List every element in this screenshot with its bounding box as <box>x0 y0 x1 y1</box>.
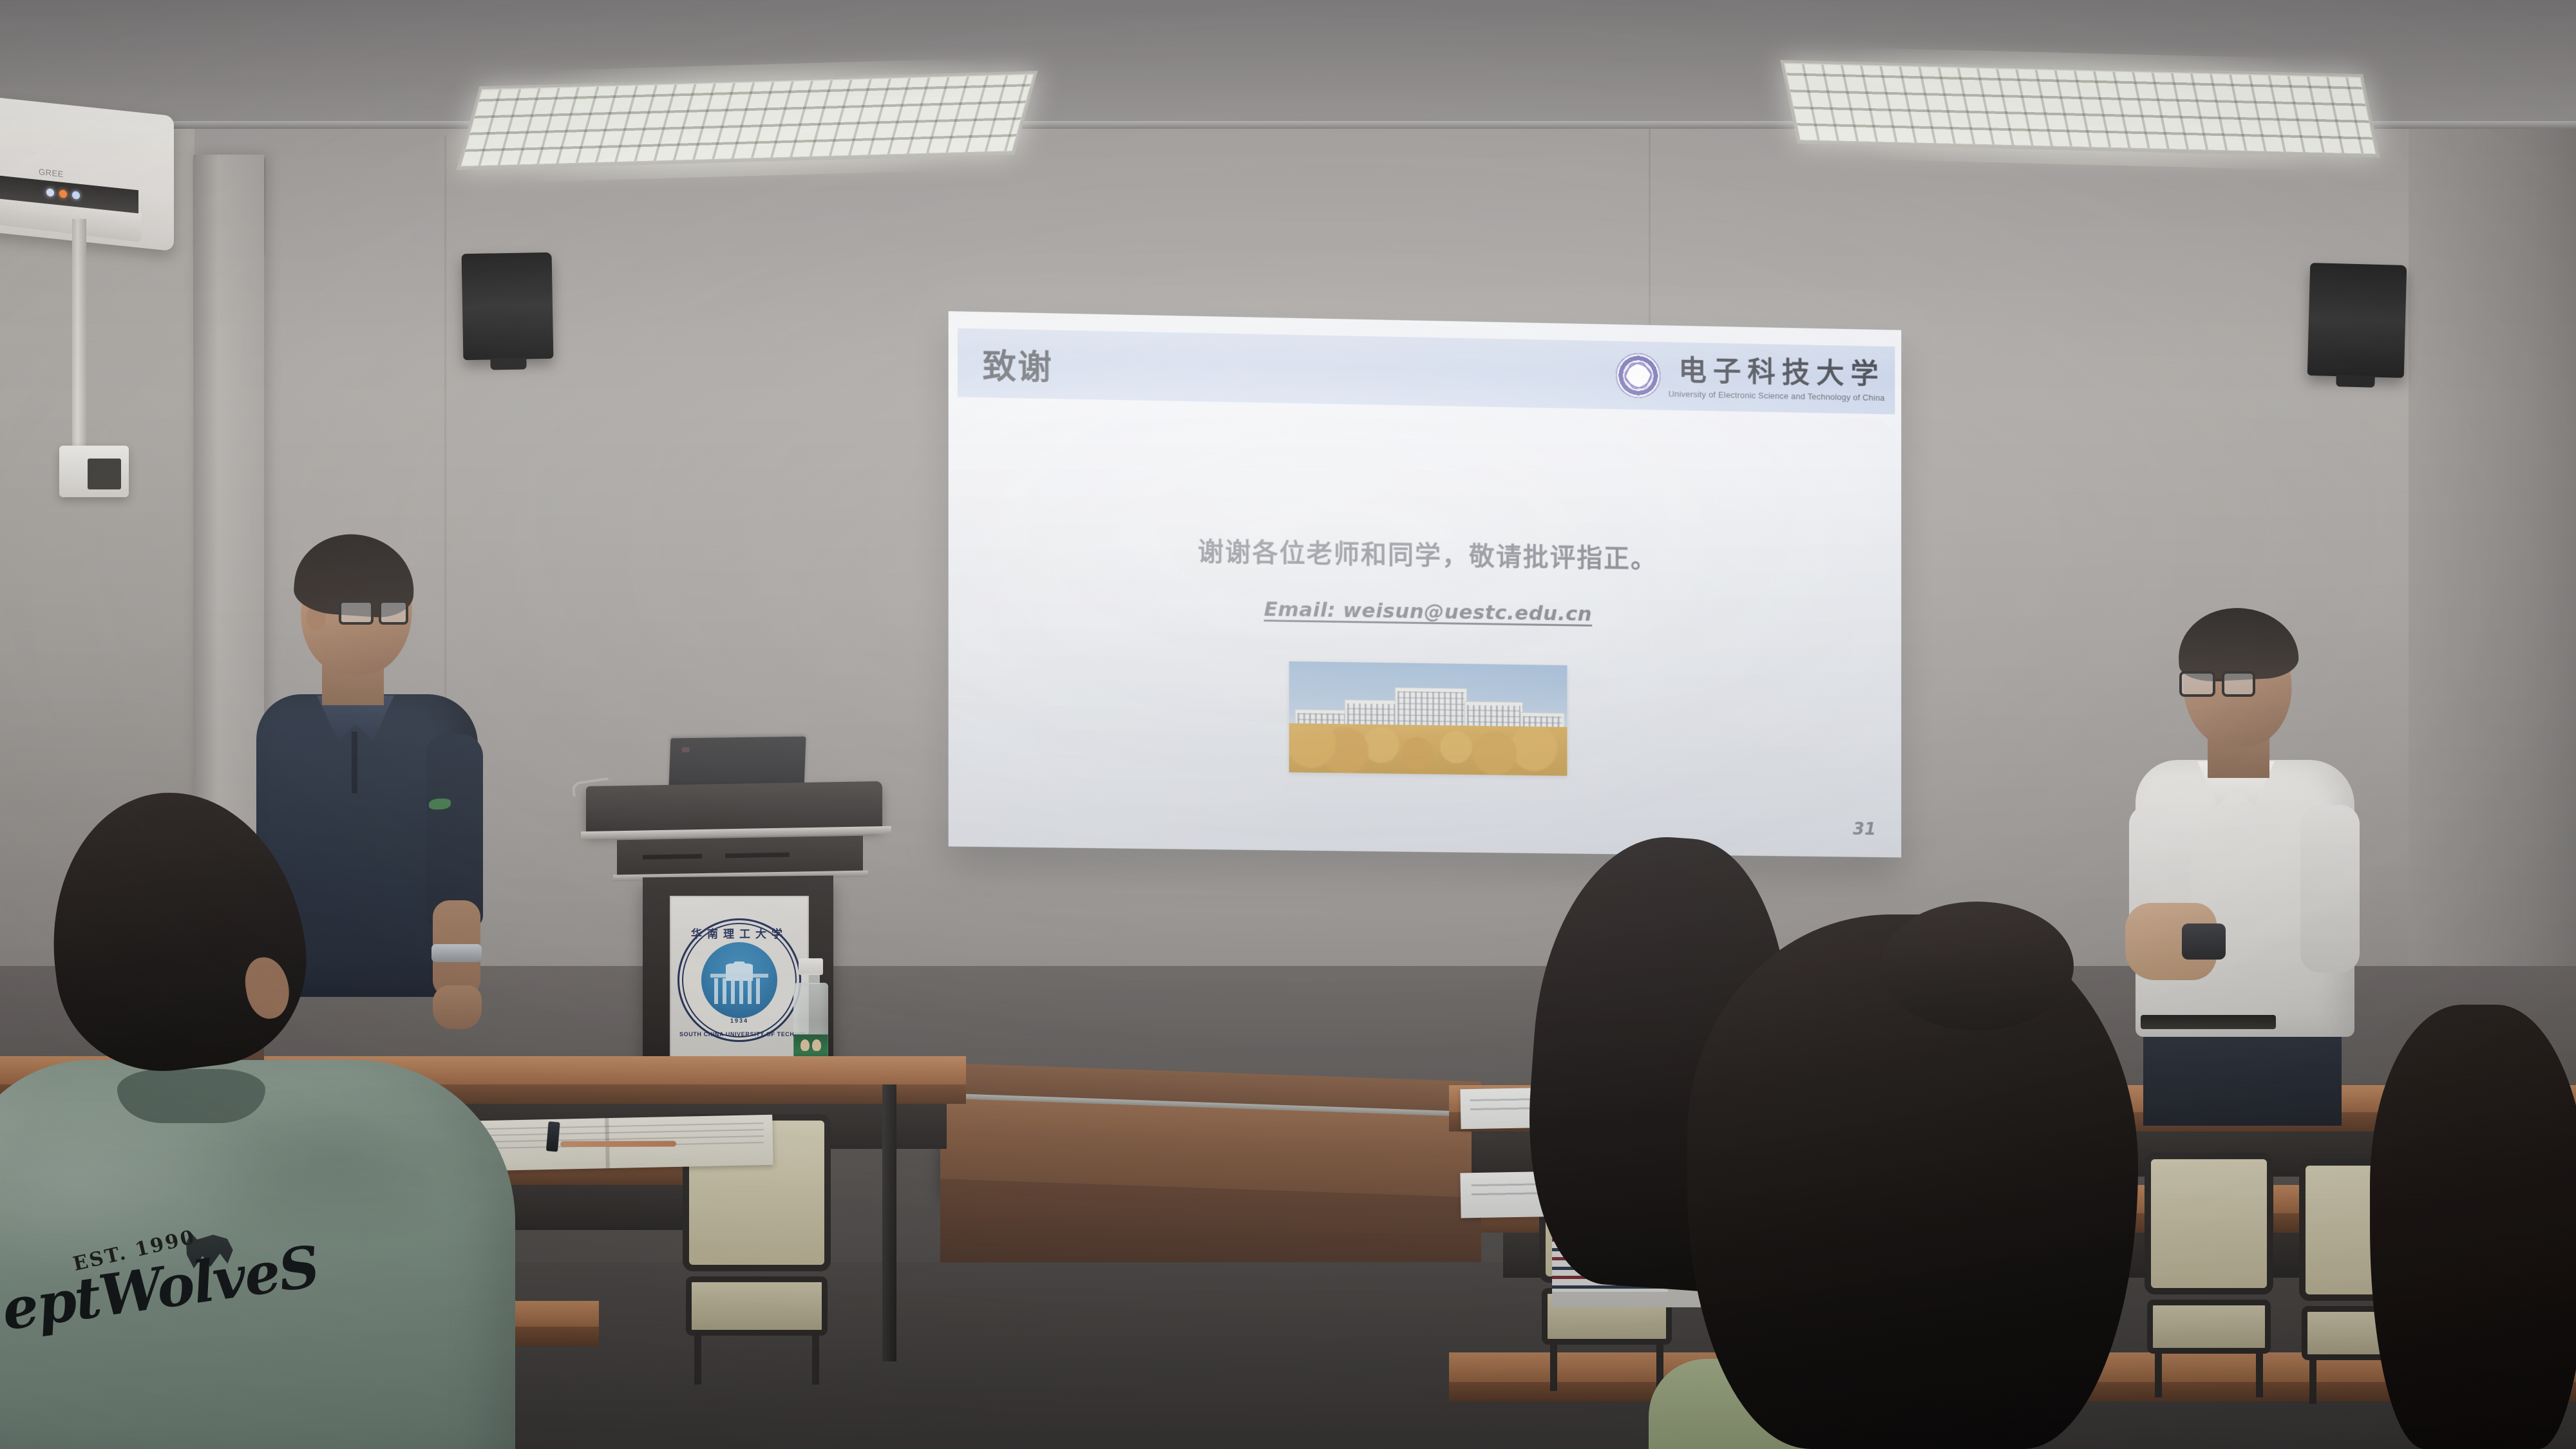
student-hair-bun <box>1880 902 2074 1030</box>
chair-legs <box>694 1336 819 1385</box>
student-hair <box>2370 1005 2576 1449</box>
glasses-lens <box>339 600 374 625</box>
audience-student-right-2 <box>1687 914 2151 1449</box>
wall-speaker-left <box>462 252 554 360</box>
presenter-right-arm-right <box>2300 805 2360 972</box>
troffer-louver <box>1785 64 2375 154</box>
uestc-wordmark: 电子科技大学 University of Electronic Science … <box>1669 357 1885 402</box>
tshirt-collar <box>117 1069 265 1123</box>
bottle-cap <box>799 958 823 975</box>
slide-email-link[interactable]: Email: weisun@uestc.edu.cn <box>949 592 1902 630</box>
slide-number: 31 <box>1853 820 1876 839</box>
scut-seal-icon: 华南理工大学 1934 SOUTH CHINA UNIVERSITY OF TE… <box>677 918 801 1042</box>
lectern-port <box>725 853 790 858</box>
projection-screen: 致谢 电子科技大学 University of Electronic Scien… <box>949 311 1902 857</box>
ceiling-light-icon <box>456 71 1037 170</box>
ceiling-light-icon <box>1780 60 2380 158</box>
wristwatch-icon <box>2182 923 2226 960</box>
scut-name-cn: 华南理工大学 <box>682 925 797 941</box>
chair-seat <box>2147 1300 2271 1354</box>
speaker-bracket <box>2336 375 2374 388</box>
lectern-plaque: 华南理工大学 1934 SOUTH CHINA UNIVERSITY OF TE… <box>670 896 809 1065</box>
slide-body: 谢谢各位老师和同学，敬请批评指正。 Email: weisun@uestc.ed… <box>949 397 1902 857</box>
troffer-louver <box>461 75 1033 166</box>
presenter-right-trousers <box>2143 1023 2342 1126</box>
chair-back <box>2145 1153 2273 1294</box>
belt-icon <box>2141 1015 2276 1029</box>
photo-ginkgo-trees <box>1289 723 1567 776</box>
label-figure-icon <box>812 1039 821 1051</box>
wall-switch-box[interactable] <box>59 446 129 497</box>
label-figure-icon <box>800 1039 810 1051</box>
ac-led-icon <box>59 189 67 198</box>
lectern-control-panel[interactable] <box>617 836 863 876</box>
ac-led-icon <box>46 188 54 196</box>
notebook-elastic-band <box>560 1141 676 1147</box>
university-name-cn: 电子科技大学 <box>1678 357 1884 390</box>
scut-name-en: SOUTH CHINA UNIVERSITY OF TECHNOLOGY <box>679 1031 799 1037</box>
chair[interactable] <box>2145 1153 2273 1397</box>
classroom-photo-scene: GREE 致谢 电子科技大学 University of Electronic … <box>0 0 2576 1449</box>
lectern-port <box>643 854 702 860</box>
desk-leg <box>882 1084 896 1361</box>
uestc-seal-icon <box>1616 353 1661 399</box>
presenter-right <box>2112 612 2370 1121</box>
wall-speaker-right <box>2307 263 2407 378</box>
glasses-lens <box>2179 671 2215 697</box>
glasses-lens <box>2222 671 2255 697</box>
switch-window <box>88 459 121 489</box>
scut-founding-year: 1934 <box>730 1018 748 1024</box>
campus-photo <box>1289 661 1567 776</box>
laptop-sticker-icon <box>682 747 690 752</box>
university-name-en: University of Electronic Science and Tec… <box>1669 389 1885 402</box>
uestc-logo: 电子科技大学 University of Electronic Science … <box>1616 353 1884 403</box>
lectern[interactable]: 华南理工大学 1934 SOUTH CHINA UNIVERSITY OF TE… <box>586 744 882 1079</box>
right-wall-return <box>2409 129 2576 1063</box>
ac-led-icon <box>72 191 80 200</box>
glasses-icon <box>339 600 416 626</box>
scut-seal-inner <box>701 942 777 1018</box>
lectern-top <box>586 781 882 834</box>
laptop-screen[interactable] <box>668 737 806 789</box>
chair-legs <box>1550 1345 1663 1391</box>
scut-building-icon <box>714 978 764 1004</box>
slide-title: 致谢 <box>982 339 1052 389</box>
chair-legs <box>2155 1354 2263 1397</box>
glasses-icon <box>2179 671 2267 698</box>
wall-conduit <box>72 219 86 451</box>
audience-student-right-3 <box>2370 1005 2576 1449</box>
slide-surface: 致谢 电子科技大学 University of Electronic Scien… <box>949 311 1902 857</box>
chair-seat <box>686 1276 828 1336</box>
slide-thanks-text: 谢谢各位老师和同学，敬请批评指正。 <box>949 527 1902 580</box>
student-head <box>35 778 318 1083</box>
speaker-bracket <box>490 357 526 370</box>
polo-placket <box>352 732 357 793</box>
air-conditioner: GREE <box>0 106 174 241</box>
audience-student-foreground-left: EST. 1990 SeptWolveS <box>0 792 547 1449</box>
glasses-lens <box>379 600 408 625</box>
pen-icon[interactable] <box>546 1121 560 1151</box>
